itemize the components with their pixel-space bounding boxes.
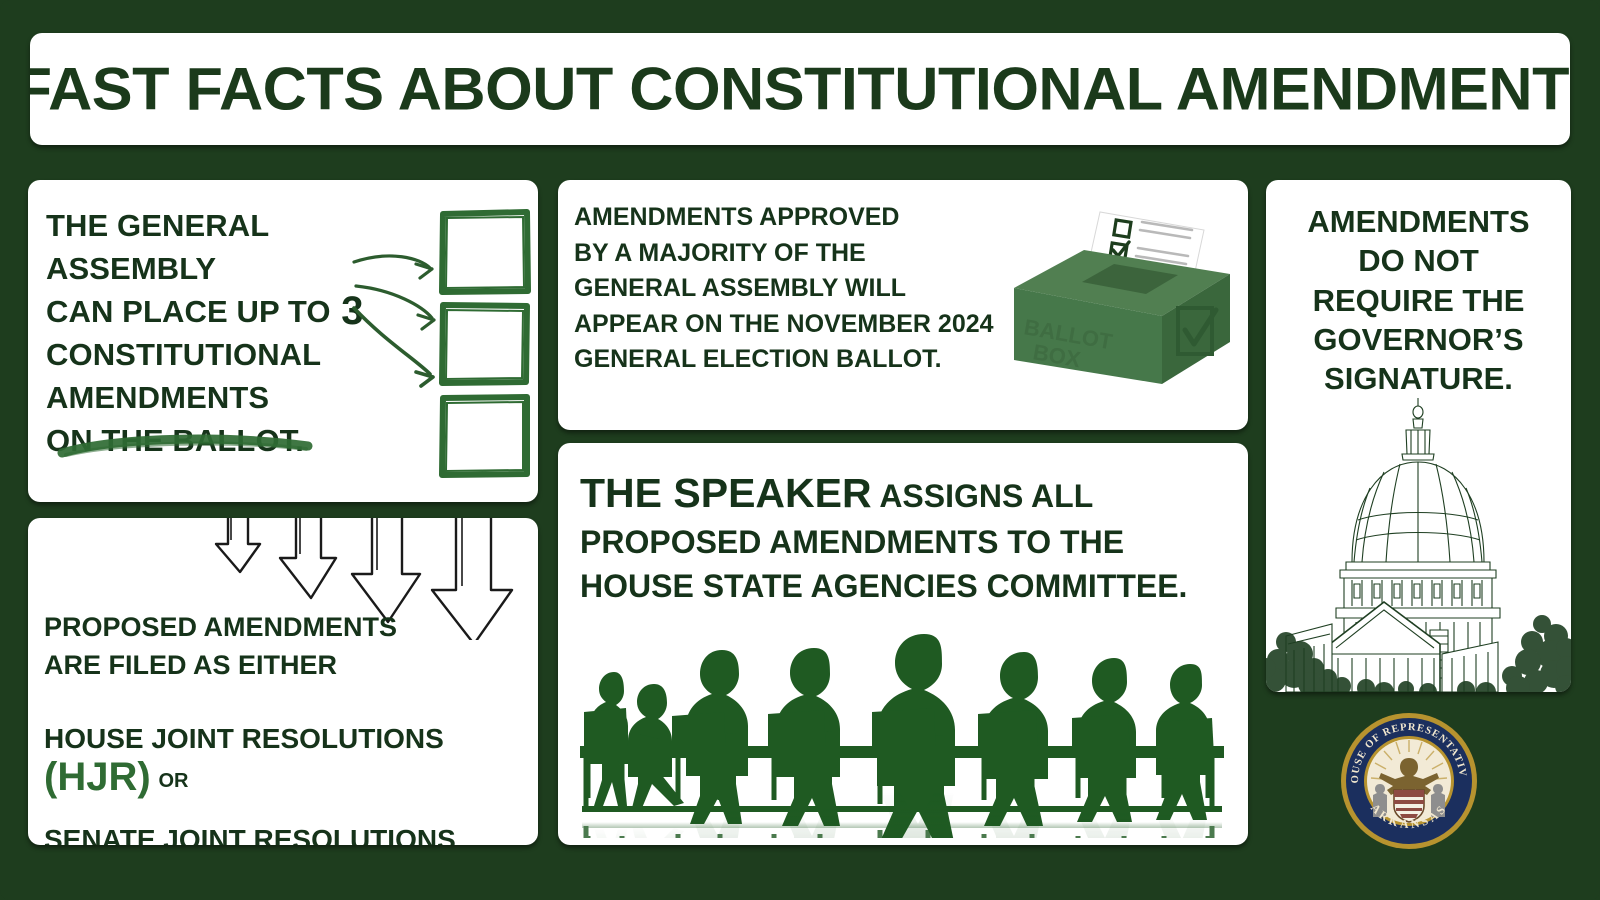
governor-line-2: DO NOT <box>1358 243 1479 278</box>
speaker-body-text: THE SPEAKER ASSIGNS ALL PROPOSED AMENDME… <box>580 465 1220 609</box>
governor-line-3: REQUIRE THE <box>1313 283 1525 318</box>
ballot-line-2: BY A MAJORITY OF THE <box>574 239 866 267</box>
proposed-line-3: HOUSE JOINT RESOLUTIONS (HJR) OR <box>44 719 534 799</box>
governor-line-4: GOVERNOR’S <box>1313 322 1523 357</box>
capitol-dome-icon <box>1266 392 1571 692</box>
assembly-line-1: THE GENERAL ASSEMBLY <box>46 208 269 286</box>
speaker-emphasis: THE SPEAKER <box>580 470 872 516</box>
ballot-number-box-1 <box>438 208 532 296</box>
assembly-line-2: CAN PLACE UP TO <box>46 294 331 329</box>
ballot-line-5: GENERAL ELECTION BALLOT. <box>574 345 942 373</box>
proposed-line-4: SENATE JOINT RESOLUTIONS (SJR). <box>44 820 534 845</box>
committee-silhouette-icon <box>572 608 1232 838</box>
hjr-or: OR <box>158 770 188 792</box>
speaker-line-3: HOUSE STATE AGENCIES COMMITTEE. <box>580 568 1187 604</box>
ballot-line-3: GENERAL ASSEMBLY WILL <box>574 274 906 302</box>
panel-speaker-committee: THE SPEAKER ASSIGNS ALL PROPOSED AMENDME… <box>558 443 1248 845</box>
governor-body-text: AMENDMENTS DO NOT REQUIRE THE GOVERNOR’S… <box>1274 202 1563 399</box>
assembly-body-text: THE GENERAL ASSEMBLY CAN PLACE UP TO 3 C… <box>46 204 376 462</box>
assembly-line-4: AMENDMENTS <box>46 380 269 415</box>
panel-general-assembly: THE GENERAL ASSEMBLY CAN PLACE UP TO 3 C… <box>28 180 538 502</box>
hjr-abbr: (HJR) <box>44 755 151 799</box>
proposed-line-1: PROPOSED AMENDMENTS <box>44 612 397 642</box>
proposed-line-2: ARE FILED AS EITHER <box>44 650 337 680</box>
ballot-box-icon: BALLOT BOX <box>992 188 1242 408</box>
page-title: FAST FACTS ABOUT CONSTITUTIONAL AMENDMEN… <box>30 55 1570 124</box>
panel-governor-signature: AMENDMENTS DO NOT REQUIRE THE GOVERNOR’S… <box>1266 180 1571 692</box>
ballot-number-box-3 <box>438 392 532 480</box>
hjr-text: HOUSE JOINT RESOLUTIONS <box>44 723 444 754</box>
governor-line-1: AMENDMENTS <box>1307 204 1529 239</box>
sjr-text: SENATE JOINT RESOLUTIONS <box>44 824 456 845</box>
arkansas-house-seal: HOUSE OF REPRESENTATIVES ARKANSAS <box>1340 712 1478 850</box>
speaker-line-1-rest: ASSIGNS ALL <box>879 478 1093 514</box>
ballot-line-4: APPEAR ON THE NOVEMBER 2024 <box>574 310 994 338</box>
underline-swoosh-icon <box>56 433 316 459</box>
speaker-line-2: PROPOSED AMENDMENTS TO THE <box>580 524 1124 560</box>
proposed-body-text: PROPOSED AMENDMENTS ARE FILED AS EITHER … <box>44 608 534 845</box>
ballot-line-1: AMENDMENTS APPROVED <box>574 203 900 231</box>
assembly-line-3: CONSTITUTIONAL <box>46 337 321 372</box>
numbered-boxes-group: 1 2 3 <box>400 208 530 498</box>
infographic-canvas: FAST FACTS ABOUT CONSTITUTIONAL AMENDMEN… <box>0 0 1600 900</box>
panel-ballot-box: AMENDMENTS APPROVED BY A MAJORITY OF THE… <box>558 180 1248 430</box>
foliage-right-icon <box>1502 615 1571 692</box>
ballot-number-box-2 <box>438 300 532 388</box>
ballot-body-text: AMENDMENTS APPROVED BY A MAJORITY OF THE… <box>574 200 1024 378</box>
panel-proposed-amendments: PROPOSED AMENDMENTS ARE FILED AS EITHER … <box>28 518 538 845</box>
title-panel: FAST FACTS ABOUT CONSTITUTIONAL AMENDMEN… <box>30 33 1570 145</box>
